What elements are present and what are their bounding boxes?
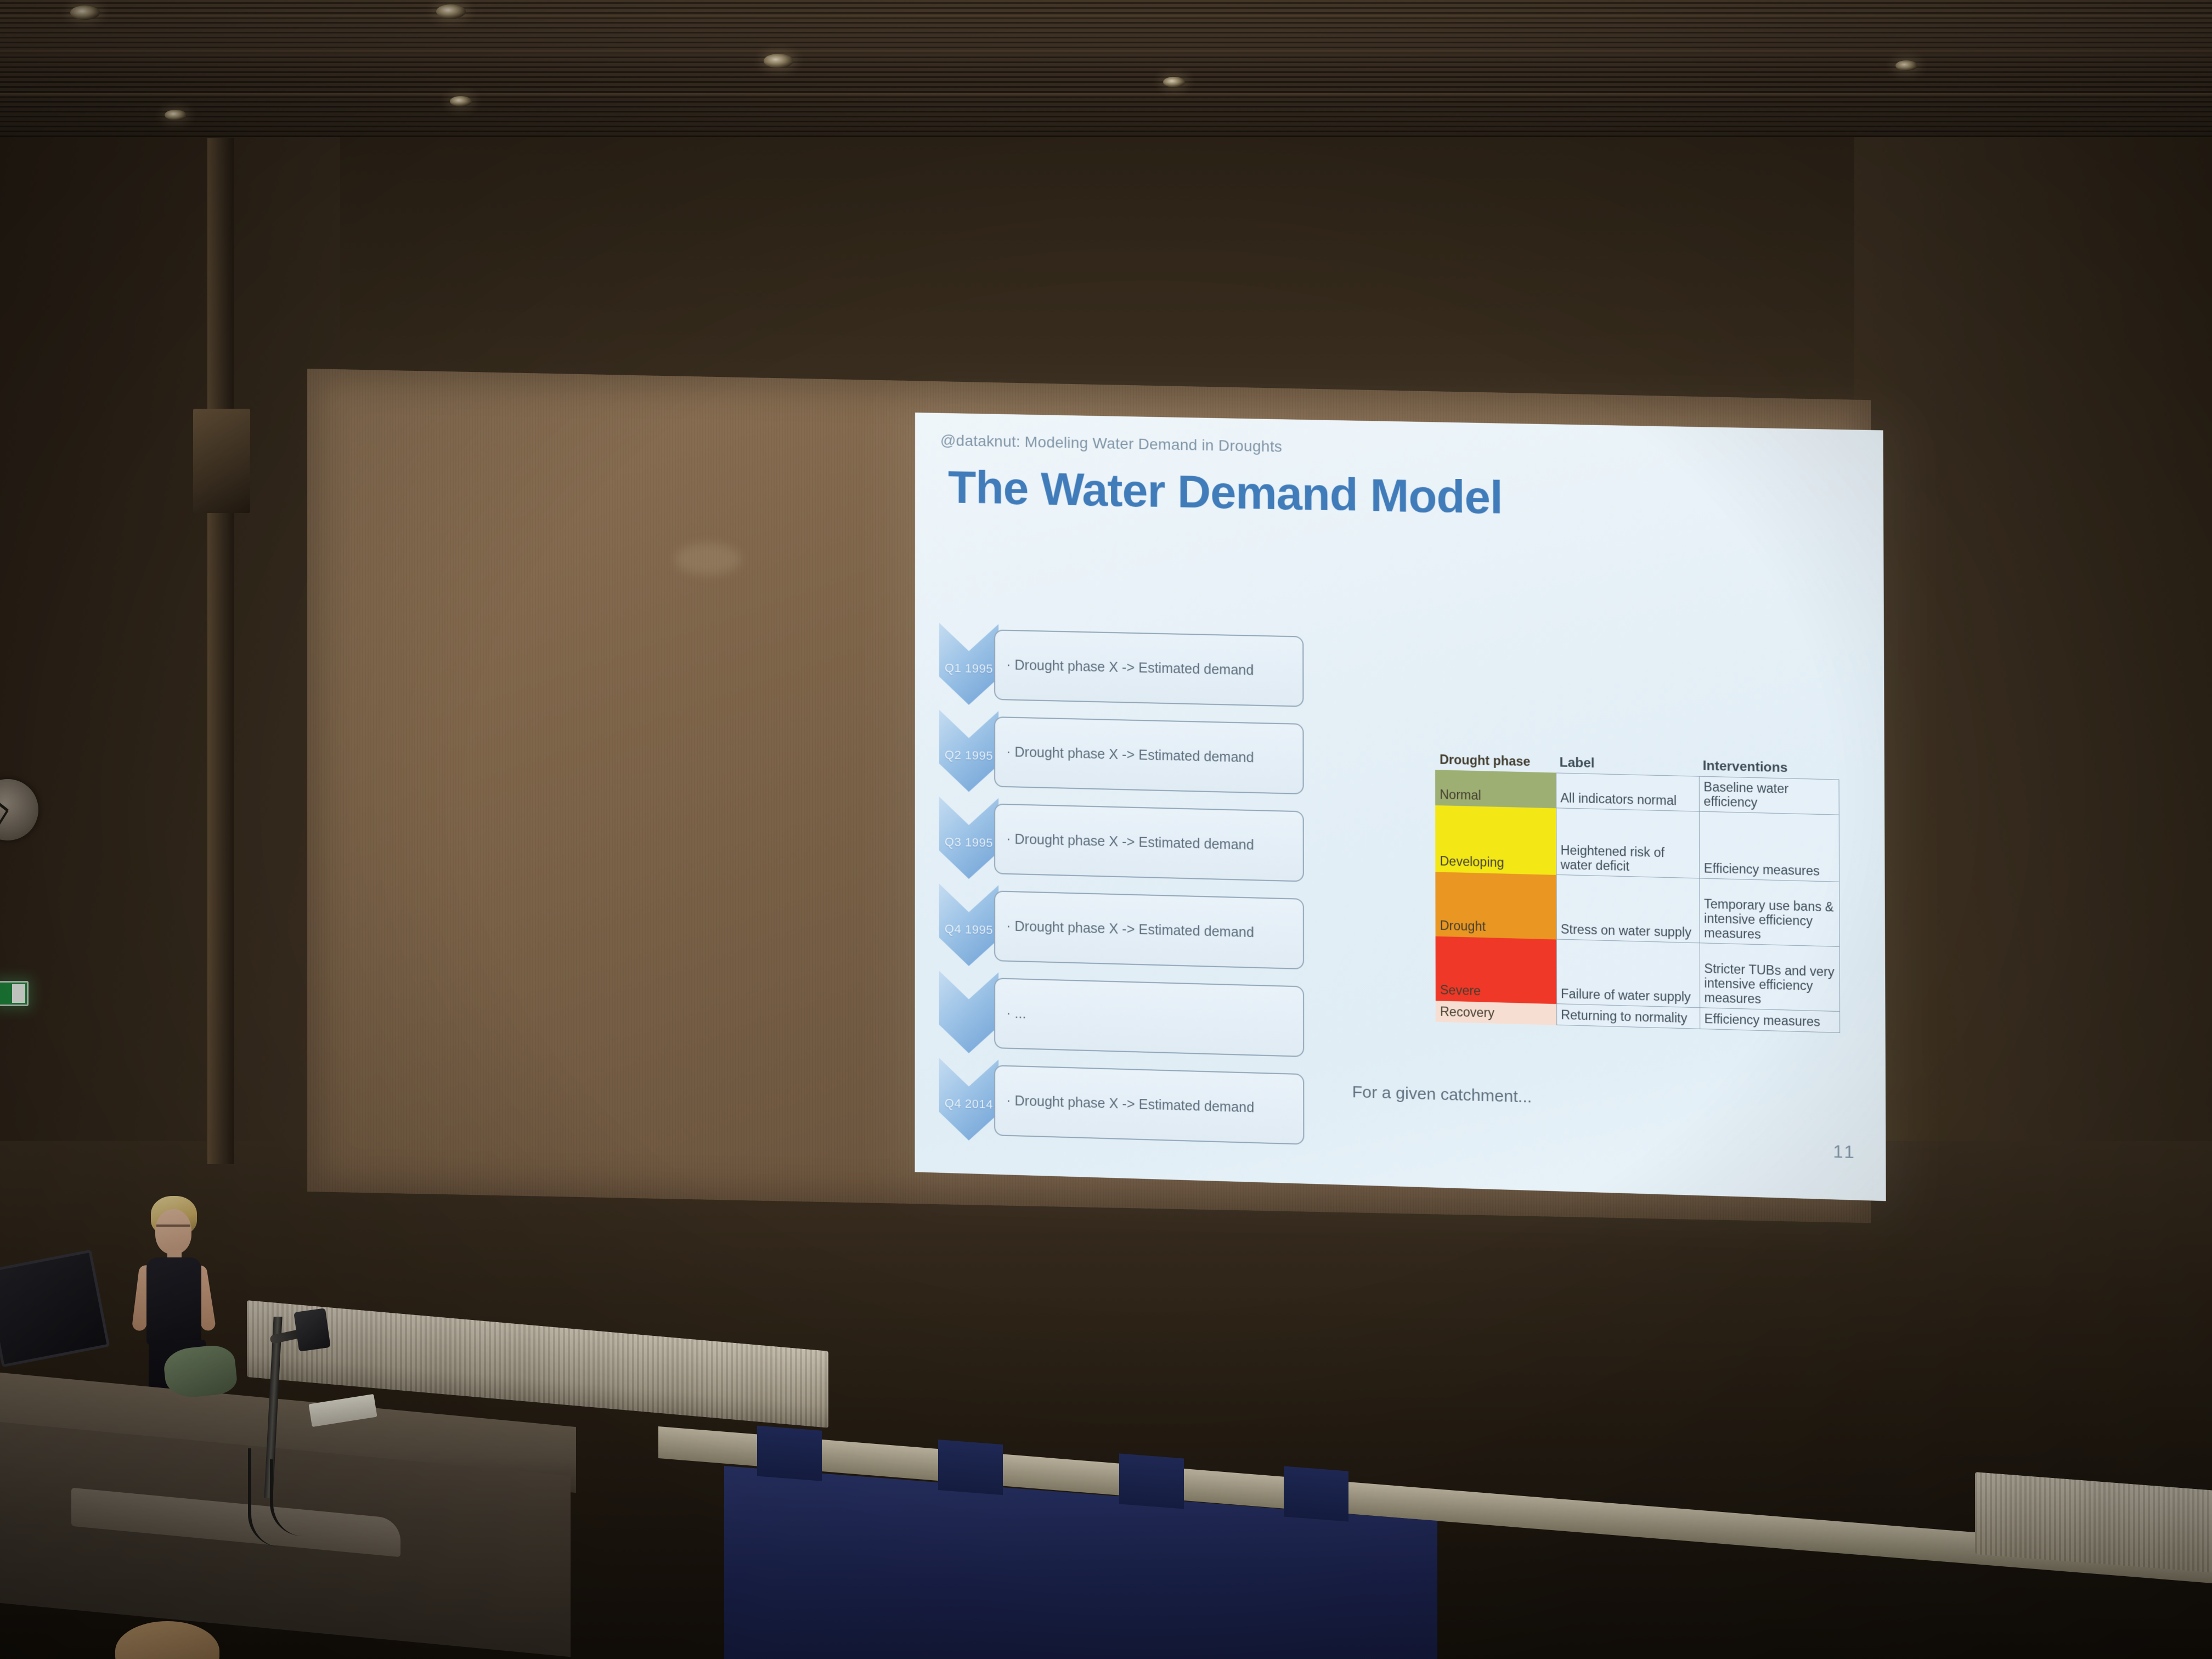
chevron-label: Q4 1995 (945, 922, 993, 937)
column-header-label: Label (1556, 752, 1699, 776)
ceiling-spotlight-icon (450, 96, 472, 106)
phase-label: Stress on water supply (1556, 875, 1700, 943)
table-row: Drought Stress on water supply Temporary… (1435, 872, 1839, 947)
chevron-row: Q4 2014 · Drought phase X -> Estimated d… (939, 1058, 1316, 1156)
phase-intervention: Stricter TUBs and very intensive efficie… (1700, 943, 1840, 1012)
ceiling-spotlight-icon (1895, 60, 1917, 71)
column-header-interventions: Interventions (1700, 755, 1839, 780)
ceiling-spotlight-icon (70, 5, 100, 20)
chevron-text: · Drought phase X -> Estimated demand (995, 831, 1254, 853)
wall-smudge (675, 543, 741, 575)
table-row: Severe Failure of water supply Stricter … (1436, 936, 1840, 1011)
phase-label: Failure of water supply (1556, 939, 1700, 1008)
phase-intervention: Baseline water efficiency (1700, 776, 1839, 815)
chevron-icon: Q1 1995 (939, 623, 998, 706)
ceiling-spotlight-icon (165, 110, 187, 120)
slide-title: The Water Demand Model (948, 460, 1503, 524)
chevron-text: · Drought phase X -> Estimated demand (995, 744, 1254, 766)
chevron-text: · Drought phase X -> Estimated demand (995, 1092, 1254, 1116)
chevron-text: · ... (995, 1005, 1026, 1022)
phase-swatch-developing: Developing (1435, 805, 1556, 875)
emergency-exit-sign-icon (0, 981, 29, 1006)
chevron-text: · Drought phase X -> Estimated demand (995, 918, 1254, 941)
phase-label: Returning to normality (1556, 1004, 1700, 1029)
ceiling-spotlight-icon (436, 4, 466, 19)
slide-header: @dataknut: Modeling Water Demand in Drou… (940, 432, 1282, 456)
ceiling-spotlight-icon (764, 54, 793, 68)
ceiling-spotlight-icon (1163, 77, 1185, 87)
slide-page-number: 11 (1833, 1141, 1857, 1163)
lecture-theatre-room: @dataknut: Modeling Water Demand in Drou… (0, 0, 2212, 1659)
chevron-icon (939, 970, 998, 1054)
chevron-icon: Q2 1995 (939, 710, 998, 793)
chevron-label: Q4 2014 (945, 1096, 993, 1112)
drought-phase-chevron-list: Q1 1995 · Drought phase X -> Estimated d… (939, 623, 1316, 1156)
chevron-label: Q3 1995 (945, 835, 993, 850)
chevron-row: Q4 1995 · Drought phase X -> Estimated d… (939, 884, 1316, 981)
glasses-icon (156, 1224, 190, 1231)
chevron-text-box: · Drought phase X -> Estimated demand (994, 629, 1304, 707)
phase-intervention: Efficiency measures (1700, 1008, 1840, 1033)
chevron-text-box: · ... (994, 978, 1304, 1057)
slide-caption: For a given catchment... (1352, 1083, 1532, 1107)
phase-swatch-drought: Drought (1435, 872, 1556, 939)
phase-swatch-recovery: Recovery (1436, 1001, 1557, 1025)
chevron-text: · Drought phase X -> Estimated demand (995, 657, 1254, 679)
chevron-row: Q3 1995 · Drought phase X -> Estimated d… (939, 797, 1315, 893)
chevron-text-box: · Drought phase X -> Estimated demand (994, 890, 1304, 969)
wall-pillar (207, 138, 234, 1164)
chevron-text-box: · Drought phase X -> Estimated demand (994, 1065, 1304, 1144)
chevron-row: Q2 1995 · Drought phase X -> Estimated d… (939, 710, 1315, 806)
phase-label: All indicators normal (1556, 773, 1700, 812)
phase-intervention: Temporary use bans & intensive efficienc… (1700, 878, 1839, 947)
column-header-phase: Drought phase (1435, 749, 1556, 773)
presenter-head (155, 1209, 191, 1254)
microphone-icon (294, 1308, 330, 1351)
chevron-row: · ... (939, 970, 1316, 1068)
chevron-label: Q1 1995 (945, 661, 993, 676)
chevron-row: Q1 1995 · Drought phase X -> Estimated d… (939, 623, 1315, 718)
ceiling (0, 0, 2212, 137)
phase-label: Heightened risk of water deficit (1556, 808, 1700, 878)
phase-intervention: Efficiency measures (1700, 811, 1839, 882)
projected-slide: @dataknut: Modeling Water Demand in Drou… (915, 413, 1886, 1201)
chevron-text-box: · Drought phase X -> Estimated demand (994, 804, 1304, 882)
chevron-icon: Q4 2014 (939, 1058, 998, 1141)
phase-swatch-normal: Normal (1435, 770, 1556, 808)
chevron-icon: Q3 1995 (939, 797, 998, 879)
chevron-text-box: · Drought phase X -> Estimated demand (994, 716, 1304, 794)
phase-swatch-severe: Severe (1436, 936, 1557, 1003)
chevron-label: Q2 1995 (945, 748, 993, 763)
presenter-torso (146, 1257, 201, 1345)
pillar-bracket (193, 409, 250, 513)
conference-table-cloth (724, 1466, 1437, 1659)
chevron-icon: Q4 1995 (939, 884, 998, 967)
drought-phase-table: Drought phase Label Interventions Normal… (1435, 749, 1840, 1033)
table-row: Developing Heightened risk of water defi… (1435, 805, 1839, 882)
